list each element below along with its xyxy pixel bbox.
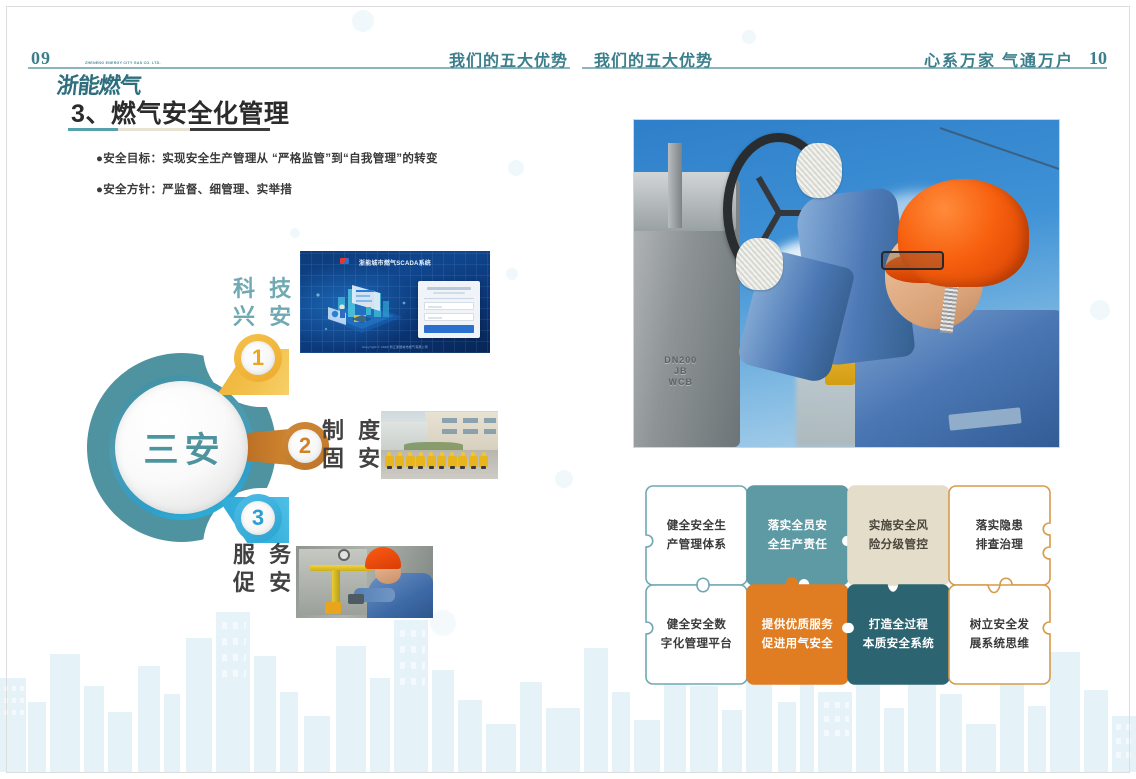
scooters-window xyxy=(484,418,496,423)
puzzle-cell[interactable]: 实施安全风 险分级管控 xyxy=(847,485,950,586)
diagram-label-3-line2: 促 安 xyxy=(233,569,295,597)
inspect-handheld-device xyxy=(348,594,364,604)
diagram-node-1[interactable]: 1 xyxy=(234,334,282,382)
company-logo: ZHENENG ENERGY CITY GAS CO. LTD. 浙能燃气 xyxy=(57,63,142,98)
scada-title: 浙能城市燃气SCADA系统 xyxy=(300,258,490,267)
deco-bubble xyxy=(506,268,518,280)
deco-bubble xyxy=(352,10,374,32)
scada-username-input[interactable] xyxy=(424,302,474,310)
handwheel-spoke xyxy=(756,176,782,214)
scooter xyxy=(416,452,425,469)
puzzle-cell[interactable]: 健全安全数 字化管理平台 xyxy=(645,584,748,685)
header-slogan: 心系万家 气通万户 xyxy=(924,47,1074,71)
main-photo-valve-stem xyxy=(668,143,682,228)
scada-isometric-illustration xyxy=(308,277,416,343)
puzzle-cell[interactable]: 健全安全生 产管理体系 xyxy=(645,485,748,586)
scooters-window xyxy=(442,429,457,434)
diagram-node-3[interactable]: 3 xyxy=(234,494,282,542)
page-title: 3、燃气安全化管理 xyxy=(71,94,289,130)
puzzle-cell-text: 实施安全风 险分级管控 xyxy=(869,517,929,555)
photo-worker-inspecting-pipeline xyxy=(296,546,433,618)
puzzle-cell-text: 落实全员安 全生产责任 xyxy=(768,517,828,555)
deco-bubble xyxy=(555,470,573,488)
page-header: 09 ZHENENG ENERGY CITY GAS CO. LTD. 浙能燃气… xyxy=(0,34,1136,70)
slide-page: 09 ZHENENG ENERGY CITY GAS CO. LTD. 浙能燃气… xyxy=(0,0,1136,779)
photo-worker-operating-valve: DN200 JB WCB xyxy=(633,119,1060,448)
deco-bubble xyxy=(1090,300,1110,320)
puzzle-cell[interactable]: 提供优质服务 促进用气安全 xyxy=(746,584,849,685)
scada-card-divider xyxy=(424,298,474,299)
node-1-number: 1 xyxy=(252,345,264,371)
main-photo-valve-top-flange xyxy=(633,172,736,231)
puzzle-cell[interactable]: 打造全过程 本质安全系统 xyxy=(847,584,950,685)
page-number-right: 10 xyxy=(1089,48,1107,69)
diagram-label-2-line2: 固 安 xyxy=(322,445,384,473)
puzzle-cell[interactable]: 树立安全发 展系统思维 xyxy=(948,584,1051,685)
diagram-label-1-line1: 科 技 xyxy=(233,275,295,303)
diagram-core-label: 三安 xyxy=(137,422,225,473)
puzzle-cell-text: 健全安全生 产管理体系 xyxy=(667,517,727,555)
scooter xyxy=(458,452,467,469)
underline-segment-teal xyxy=(68,128,118,131)
scooter xyxy=(385,452,394,469)
logo-english-text: ZHENENG ENERGY CITY GAS CO. LTD. xyxy=(85,61,161,65)
puzzle-cell-text: 落实隐患 排查治理 xyxy=(976,517,1024,555)
scada-footer-copyright: Copyright © 2020 浙江浙能城市燃气有限公司 xyxy=(300,345,490,349)
scooters-window xyxy=(463,418,478,423)
bullet-safety-policy: ●安全方针：严监督、细管理、实举措 xyxy=(96,181,292,197)
main-photo-worker-glove xyxy=(796,143,843,199)
puzzle-cell-text: 提供优质服务 促进用气安全 xyxy=(762,616,833,654)
scada-card-title-bar xyxy=(427,287,471,290)
header-title-right: 我们的五大优势 xyxy=(594,47,713,71)
underline-segment-beige xyxy=(118,128,190,131)
main-photo-valve-casting-label: DN200 JB WCB xyxy=(651,355,711,388)
inspect-valve xyxy=(325,602,341,614)
puzzle-cell-text: 健全安全数 字化管理平台 xyxy=(661,616,732,654)
scooter xyxy=(479,452,488,469)
main-photo-worker-hard-hat xyxy=(898,179,1030,287)
main-photo-worker-glasses xyxy=(881,251,945,271)
scada-password-input[interactable] xyxy=(424,313,474,321)
page-number-left: 09 xyxy=(31,48,51,69)
deco-bubble xyxy=(290,228,300,238)
scooters-window xyxy=(463,429,478,434)
node-2-inner: 2 xyxy=(288,429,322,463)
bullet-safety-goal: ●安全目标：实现安全生产管理从 “严格监管”到“自我管理”的转变 xyxy=(96,150,438,166)
photo-scada-login-screenshot: 浙能城市燃气SCADA系统 xyxy=(300,251,490,353)
diagram-label-3: 服 务 促 安 xyxy=(233,541,295,597)
scooters-window xyxy=(484,429,496,434)
safety-framework-puzzle-grid: 健全安全生 产管理体系 落实全员安 全生产责任 实施安全风 险分级管控 xyxy=(645,485,1055,687)
diagram-label-1-line2: 兴 安 xyxy=(233,303,295,331)
scada-login-card xyxy=(418,281,480,338)
inspect-gas-pipe-horizontal xyxy=(310,565,373,571)
header-title-left: 我们的五大优势 xyxy=(449,47,568,71)
diagram-label-2: 制 度 固 安 xyxy=(322,417,384,473)
scada-card-subtitle-bar xyxy=(433,292,465,294)
puzzle-cell[interactable]: 落实隐患 排查治理 xyxy=(948,485,1051,586)
underline-segment-dark xyxy=(190,128,270,131)
puzzle-cell-text: 树立安全发 展系统思维 xyxy=(970,616,1030,654)
scooter xyxy=(406,452,415,469)
scooter xyxy=(437,452,446,469)
diagram-label-1: 科 技 兴 安 xyxy=(233,275,295,331)
scada-login-button[interactable] xyxy=(424,325,474,333)
node-1-inner: 1 xyxy=(241,341,275,375)
title-underline xyxy=(68,128,270,131)
diagram-core: 三安 xyxy=(115,381,248,514)
node-3-inner: 3 xyxy=(241,501,275,535)
scooter xyxy=(448,452,457,469)
diagram-label-2-line1: 制 度 xyxy=(322,417,384,445)
inspect-worker-helmet xyxy=(365,547,401,569)
scooters-window xyxy=(442,418,457,423)
main-photo-worker-glove xyxy=(736,238,783,290)
puzzle-cell[interactable]: 落实全员安 全生产责任 xyxy=(746,485,849,586)
puzzle-cell-text: 打造全过程 本质安全系统 xyxy=(863,616,934,654)
scooter xyxy=(395,452,404,469)
photo-service-scooters xyxy=(381,411,498,479)
deco-bubble xyxy=(508,160,524,176)
scooter xyxy=(427,452,436,469)
node-3-number: 3 xyxy=(252,505,264,531)
scooters-trees xyxy=(404,442,463,450)
scooter xyxy=(469,452,478,469)
node-2-number: 2 xyxy=(299,433,311,459)
diagram-label-3-line1: 服 务 xyxy=(233,541,295,569)
